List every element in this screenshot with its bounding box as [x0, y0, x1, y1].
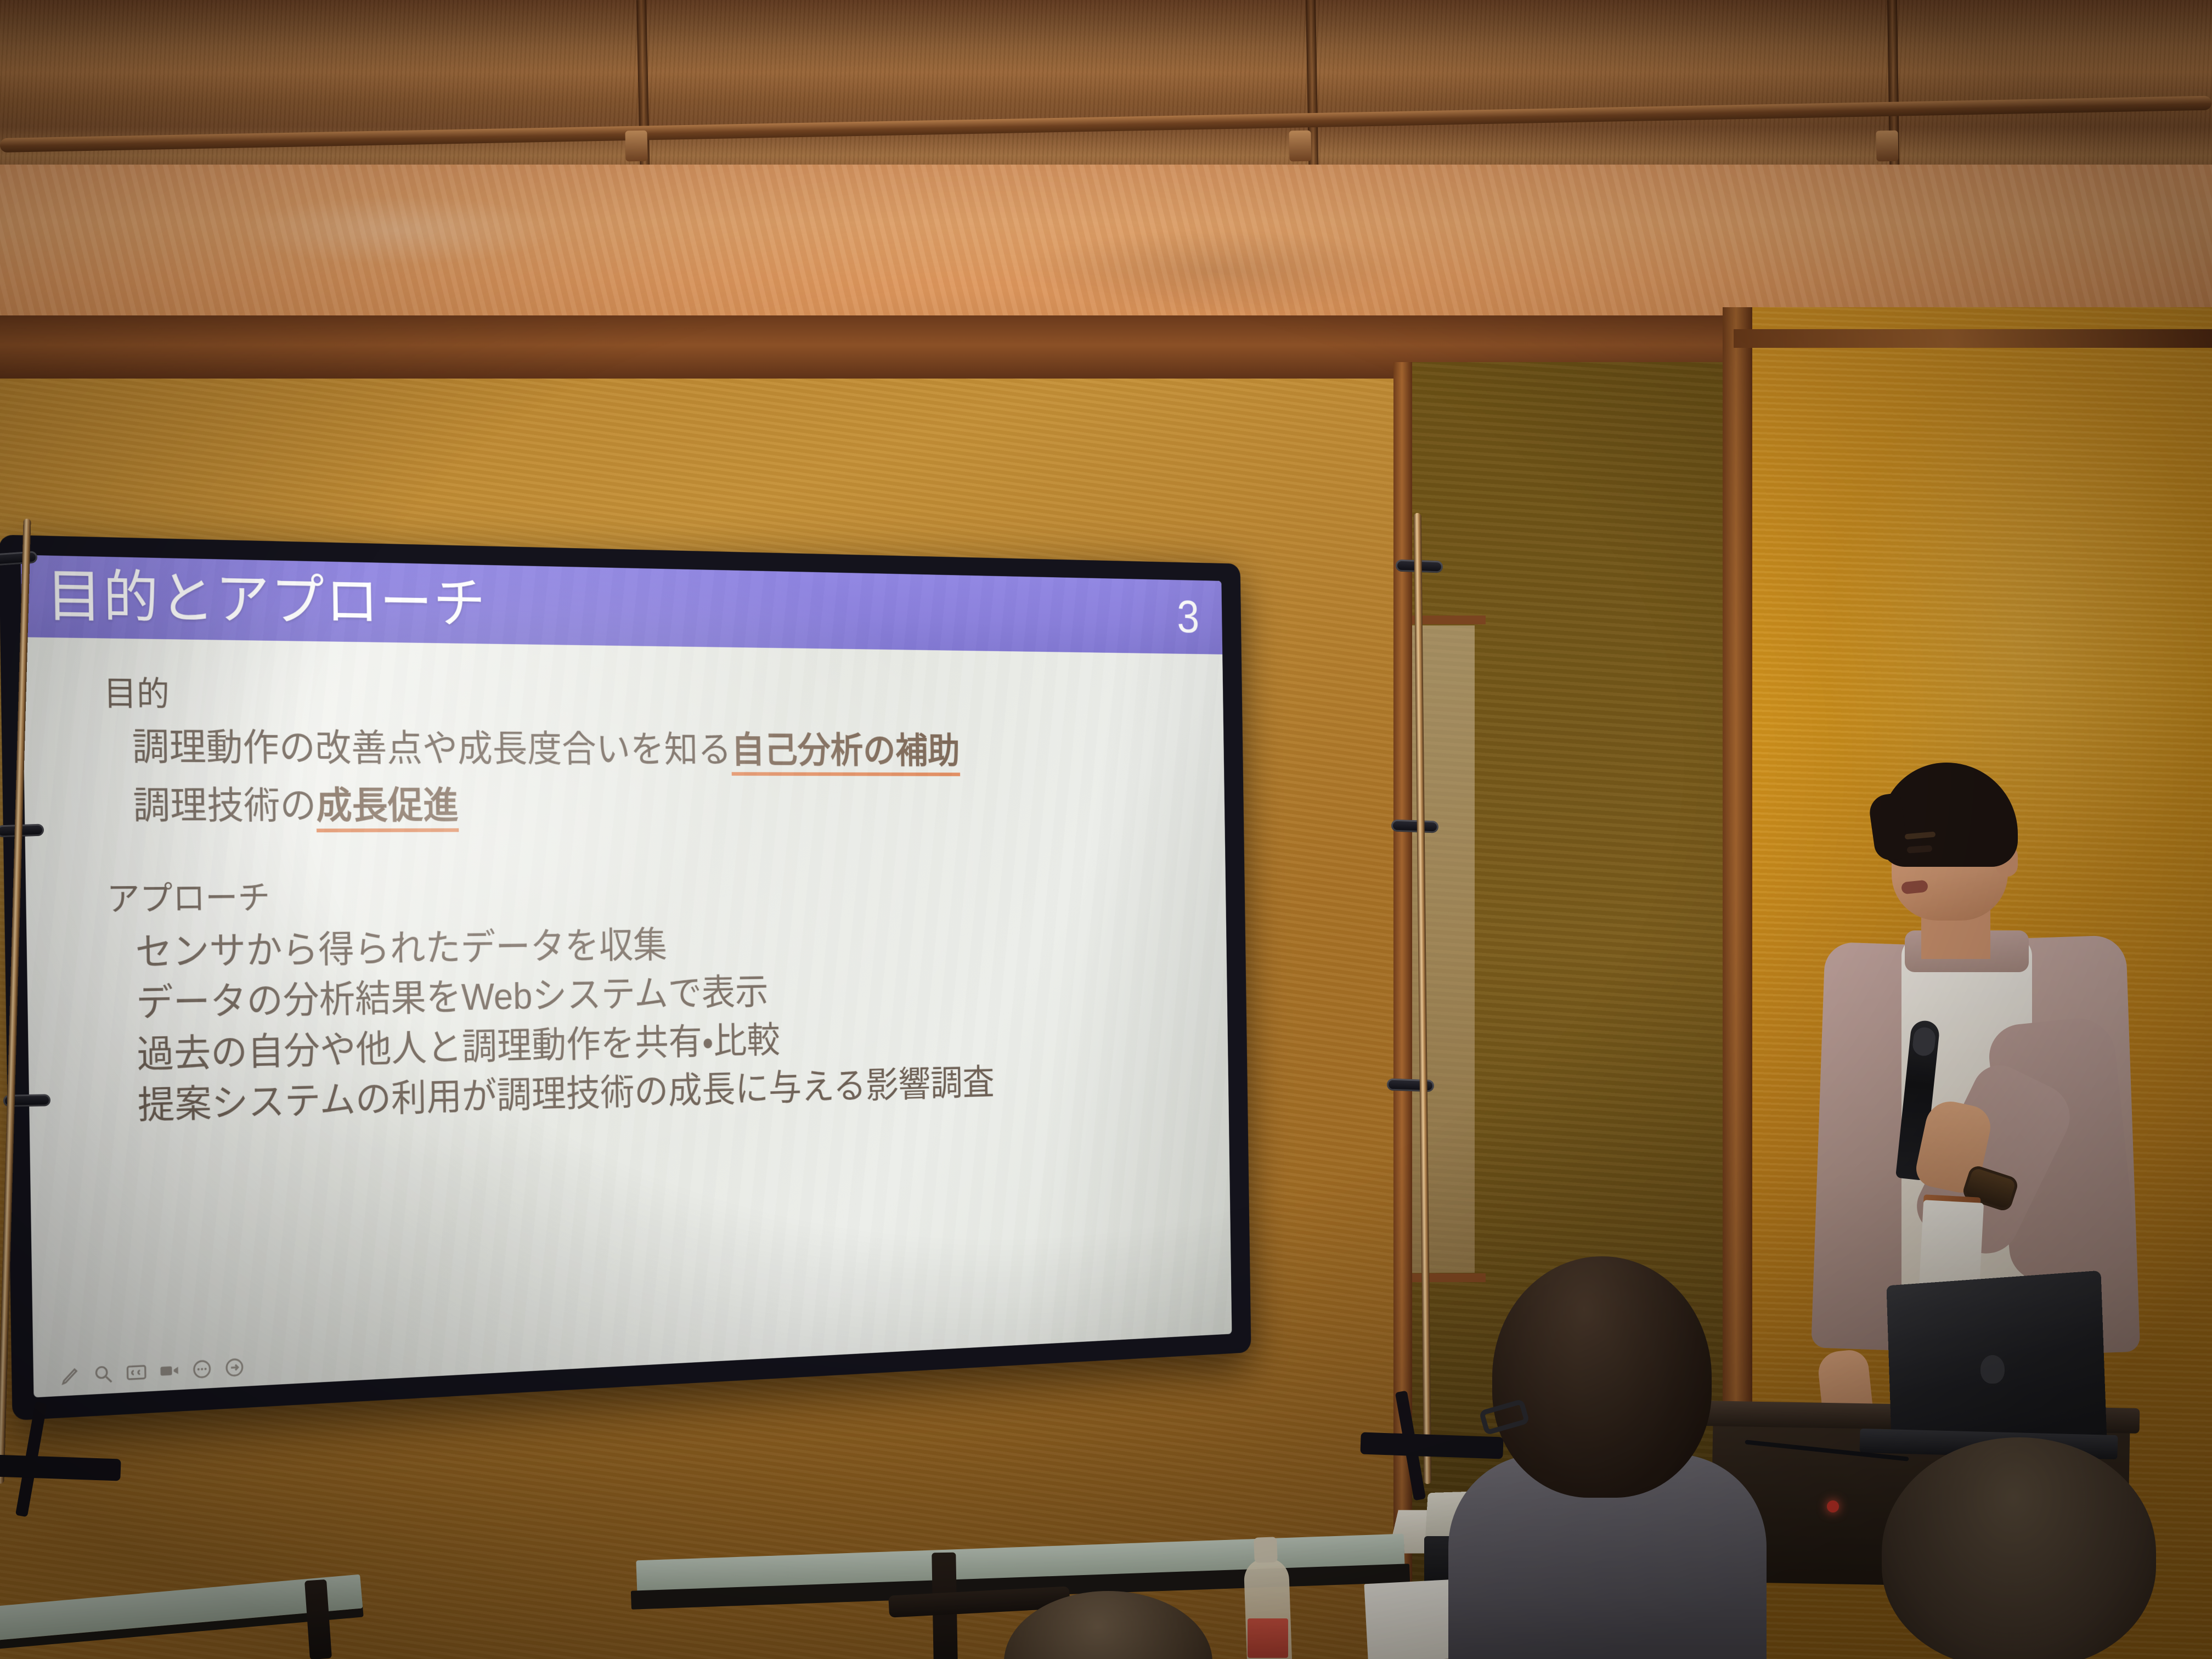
- audience-head: [1882, 1437, 2156, 1659]
- screen-foot: [1360, 1432, 1503, 1459]
- wall-trim-horizontal: [1734, 329, 2212, 348]
- video-icon[interactable]: [159, 1359, 180, 1382]
- screen-foot: [0, 1454, 121, 1481]
- status-led: [1827, 1500, 1839, 1513]
- pipe-collar: [625, 131, 647, 162]
- bullet-approach-1: センサから得られたデータを収集: [135, 918, 1188, 973]
- screen-bungee-clip: [1391, 820, 1439, 833]
- bullet-purpose-2: 調理技術の成長促進: [133, 785, 1186, 828]
- next-slide-icon[interactable]: [224, 1356, 245, 1379]
- bullet-text: 調理技術の: [133, 785, 317, 827]
- audience-head: [1492, 1256, 1712, 1498]
- section-heading-purpose: 目的: [103, 676, 1184, 720]
- projection-screen: 目的とアプローチ 3 目的 調理動作の改善点や成長度合いを知る自己分析の補助 調…: [0, 524, 1448, 1468]
- room-scene: 目的とアプローチ 3 目的 調理動作の改善点や成長度合いを知る自己分析の補助 調…: [0, 0, 2212, 1659]
- bullet-highlight: 自己分析の補助: [731, 730, 961, 776]
- magnifier-icon[interactable]: [93, 1363, 115, 1386]
- presenter-hair: [1881, 763, 2018, 867]
- more-options-icon[interactable]: [191, 1358, 213, 1380]
- presenter-toolbar[interactable]: [59, 1356, 245, 1387]
- stucco-soffit: [0, 165, 2212, 329]
- bullet-highlight: 成長促進: [316, 785, 459, 833]
- bullet-text: センサから得られたデータを収集: [135, 925, 667, 974]
- slide-title: 目的とアプローチ: [46, 568, 487, 631]
- name-badge: [1919, 1200, 1984, 1291]
- slide-page-number: 3: [1177, 594, 1206, 640]
- screen-pole-right: [1414, 513, 1432, 1484]
- bullet-purpose-1: 調理動作の改善点や成長度合いを知る自己分析の補助: [132, 726, 1185, 772]
- pipe-collar: [1289, 131, 1311, 162]
- slide: 目的とアプローチ 3 目的 調理動作の改善点や成長度合いを知る自己分析の補助 調…: [21, 555, 1232, 1398]
- slide-body: 目的 調理動作の改善点や成長度合いを知る自己分析の補助 調理技術の成長促進 アプ…: [22, 637, 1232, 1397]
- bullet-text: 過去の自分や他人と調理動作を共有・比較: [137, 1020, 780, 1076]
- screen-frame: 目的とアプローチ 3 目的 調理動作の改善点や成長度合いを知る自己分析の補助 調…: [0, 535, 1251, 1421]
- pen-icon[interactable]: [59, 1364, 81, 1387]
- screen-surface: 目的とアプローチ 3 目的 調理動作の改善点や成長度合いを知る自己分析の補助 調…: [21, 555, 1232, 1398]
- laptop-logo: [1980, 1355, 2005, 1384]
- captions-icon[interactable]: [126, 1361, 147, 1384]
- pipe-collar: [1876, 131, 1898, 162]
- section-heading-approach: アプローチ: [106, 874, 1187, 917]
- bullet-text: データの分析結果をWebシステムで表示: [136, 972, 769, 1025]
- bottle-label: [1248, 1618, 1288, 1658]
- bullet-text: 調理動作の改善点や成長度合いを知る: [132, 726, 731, 770]
